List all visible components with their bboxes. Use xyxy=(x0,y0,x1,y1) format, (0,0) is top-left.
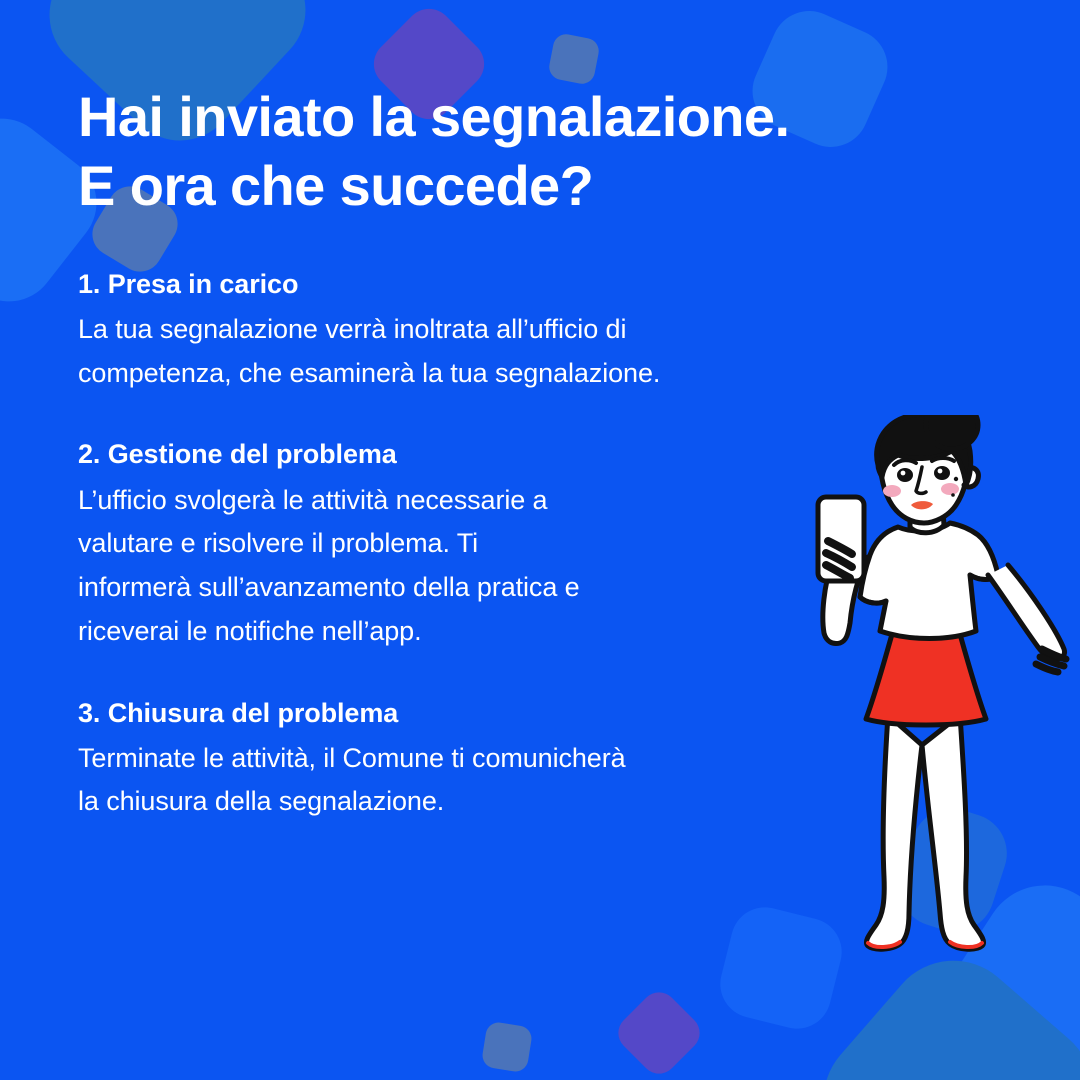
content-column: Hai inviato la segnalazione. E ora che s… xyxy=(78,0,908,824)
step-2-body-line-1: L’ufficio svolgerà le attività necessari… xyxy=(78,479,778,523)
step-3-title: 3. Chiusura del problema xyxy=(78,694,908,733)
step-2-body-line-4: riceverai le notifiche nell’app. xyxy=(78,610,778,654)
poster: Hai inviato la segnalazione. E ora che s… xyxy=(0,0,1080,1080)
woman-holding-smartphone-illustration xyxy=(810,415,1080,960)
step-3-body-line-1: Terminate le attività, il Comune ti comu… xyxy=(78,737,878,781)
step-item-1: 1. Presa in carico La tua segnalazione v… xyxy=(78,265,908,396)
step-2-title: 2. Gestione del problema xyxy=(78,435,908,474)
step-2-body: L’ufficio svolgerà le attività necessari… xyxy=(78,479,778,654)
steps-list: 1. Presa in carico La tua segnalazione v… xyxy=(78,265,908,824)
step-item-3: 3. Chiusura del problema Terminate le at… xyxy=(78,694,908,825)
decorative-square-gray-bottom xyxy=(481,1021,534,1074)
step-2-body-line-2: valutare e risolvere il problema. Ti xyxy=(78,522,778,566)
headline-line-1: Hai inviato la segnalazione. xyxy=(78,82,908,151)
step-1-body: La tua segnalazione verrà inoltrata all’… xyxy=(78,308,878,395)
step-1-body-line-1: La tua segnalazione verrà inoltrata all’… xyxy=(78,308,878,352)
step-item-2: 2. Gestione del problema L’ufficio svolg… xyxy=(78,435,908,653)
page-title: Hai inviato la segnalazione. E ora che s… xyxy=(78,0,908,221)
step-1-body-line-2: competenza, che esaminerà la tua segnala… xyxy=(78,352,878,396)
step-2-body-line-3: informerà sull’avanzamento della pratica… xyxy=(78,566,778,610)
decorative-diamond-purple-bottom xyxy=(611,985,707,1080)
headline-line-2: E ora che succede? xyxy=(78,151,908,220)
step-3-body-line-2: la chiusura della segnalazione. xyxy=(78,780,878,824)
step-3-body: Terminate le attività, il Comune ti comu… xyxy=(78,737,878,824)
step-1-title: 1. Presa in carico xyxy=(78,265,878,304)
